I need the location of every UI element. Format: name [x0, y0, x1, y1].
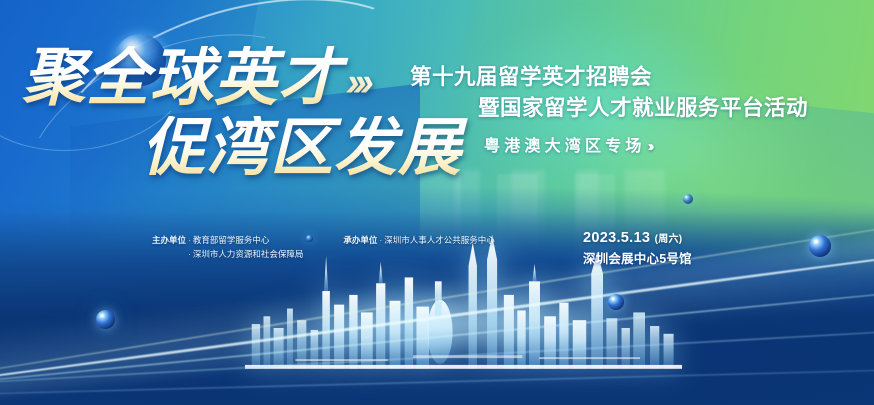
host-row-2: ·深圳市人力资源和社会保障局 — [152, 248, 303, 262]
bullet-dot-icon: · — [379, 235, 382, 245]
coorganizer-label: 承办单位 — [343, 235, 377, 245]
event-title-line-2: 暨国家留学人才就业服务平台活动 — [478, 93, 808, 124]
event-banner: 聚全球英才››› 促湾区发展 第十九届留学英才招聘会 暨国家留学人才就业服务平台… — [0, 0, 874, 405]
host-column: 主办单位·教育部留学服务中心 ·深圳市人力资源和社会保障局 — [152, 234, 303, 262]
host-label: 主办单位 — [152, 235, 186, 245]
chevron-right-triple-icon: ››› — [346, 62, 368, 103]
host-row-1: 主办单位·教育部留学服务中心 — [152, 234, 303, 248]
bullet-dot-icon: · — [188, 235, 191, 245]
event-title-line-1: 第十九届留学英才招聘会 — [410, 62, 808, 93]
coorganizer-name-1: 深圳市人事人才公共服务中心 — [384, 235, 495, 245]
host-name-2: 深圳市人力资源和社会保障局 — [193, 249, 304, 259]
coorganizer-column: 承办单位·深圳市人事人才公共服务中心 — [343, 234, 494, 262]
event-weekday: (周六) — [655, 234, 683, 245]
event-title-block: 第十九届留学英才招聘会 暨国家留学人才就业服务平台活动 粤港澳大湾区专场››› — [410, 62, 808, 156]
event-date: 2023.5.13 — [583, 230, 650, 246]
glowing-orb-icon — [608, 294, 624, 310]
event-venue: 深圳会展中心5号馆 — [583, 248, 692, 267]
event-subtitle-text: 粤港澳大湾区专场 — [484, 138, 646, 155]
event-date-row: 2023.5.13 (周六) — [583, 230, 692, 246]
event-subtitle: 粤港澳大湾区专场››› — [484, 132, 808, 156]
chevron-right-triple-small-icon: ››› — [648, 138, 651, 155]
bullet-dot-icon: · — [188, 249, 191, 259]
organizers-block: 主办单位·教育部留学服务中心 ·深圳市人力资源和社会保障局 承办单位·深圳市人事… — [152, 234, 495, 262]
glowing-orb-icon — [96, 310, 115, 329]
host-name-1: 教育部留学服务中心 — [193, 235, 270, 245]
schedule-block: 2023.5.13 (周六) 深圳会展中心5号馆 — [583, 230, 692, 267]
headline-line-1-text: 聚全球英才 — [22, 43, 342, 113]
coorganizer-row-1: 承办单位·深圳市人事人才公共服务中心 — [343, 234, 494, 248]
